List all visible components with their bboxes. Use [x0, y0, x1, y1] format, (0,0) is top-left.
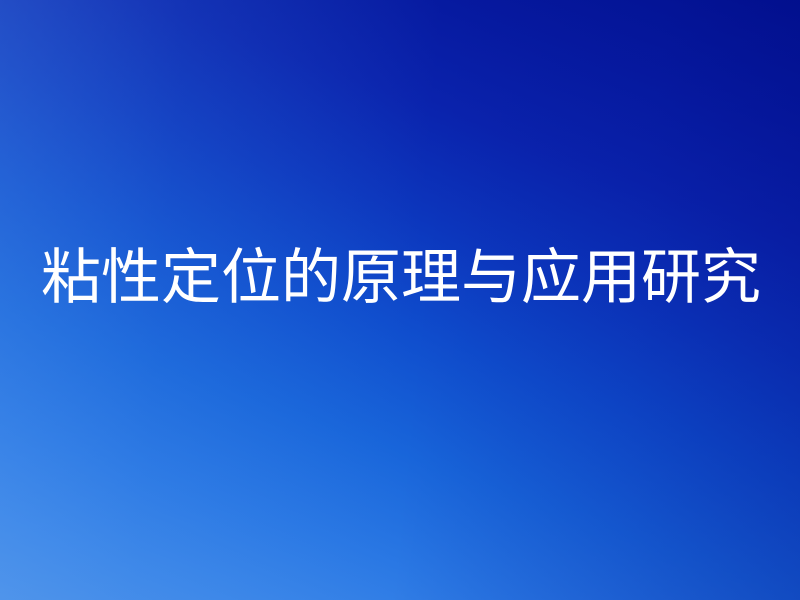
- slide-title: 粘性定位的原理与应用研究: [0, 248, 761, 308]
- title-container: 粘性定位的原理与应用研究: [0, 0, 800, 600]
- slide-canvas: 粘性定位的原理与应用研究: [0, 0, 800, 600]
